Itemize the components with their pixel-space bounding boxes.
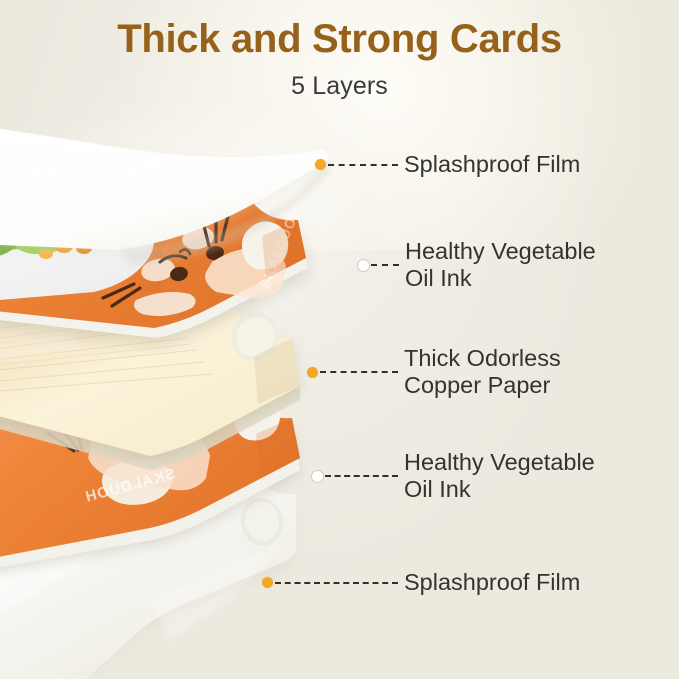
page-subtitle: 5 Layers (0, 72, 679, 101)
callout-label: Thick Odorless Copper Paper (404, 345, 561, 400)
callout-leader-line (328, 164, 398, 166)
callout-splashproof-film-top: Splashproof Film (315, 151, 580, 178)
callout-dot-icon (358, 260, 369, 271)
callout-dot-icon (307, 367, 318, 378)
callout-label: Healthy Vegetable Oil Ink (404, 449, 595, 504)
callout-dot-icon (312, 471, 323, 482)
callout-leader-line (325, 475, 398, 477)
infographic-canvas: SKALDUOH (0, 0, 679, 679)
callout-label: Healthy Vegetable Oil Ink (405, 238, 596, 293)
callout-dot-icon (262, 577, 273, 588)
callout-leader-line (320, 371, 398, 373)
callout-healthy-vegetable-oil-ink-upper: Healthy Vegetable Oil Ink (358, 238, 596, 293)
callout-dot-icon (315, 159, 326, 170)
callout-label: Splashproof Film (404, 569, 580, 596)
callout-healthy-vegetable-oil-ink-lower: Healthy Vegetable Oil Ink (312, 449, 595, 504)
callout-splashproof-film-bottom: Splashproof Film (262, 569, 580, 596)
title-block: Thick and Strong Cards 5 Layers (0, 18, 679, 101)
callout-leader-line (275, 582, 398, 584)
callout-thick-odorless-copper-paper: Thick Odorless Copper Paper (307, 345, 561, 400)
callout-leader-line (371, 264, 399, 266)
callout-label: Splashproof Film (404, 151, 580, 178)
page-title: Thick and Strong Cards (0, 18, 679, 60)
